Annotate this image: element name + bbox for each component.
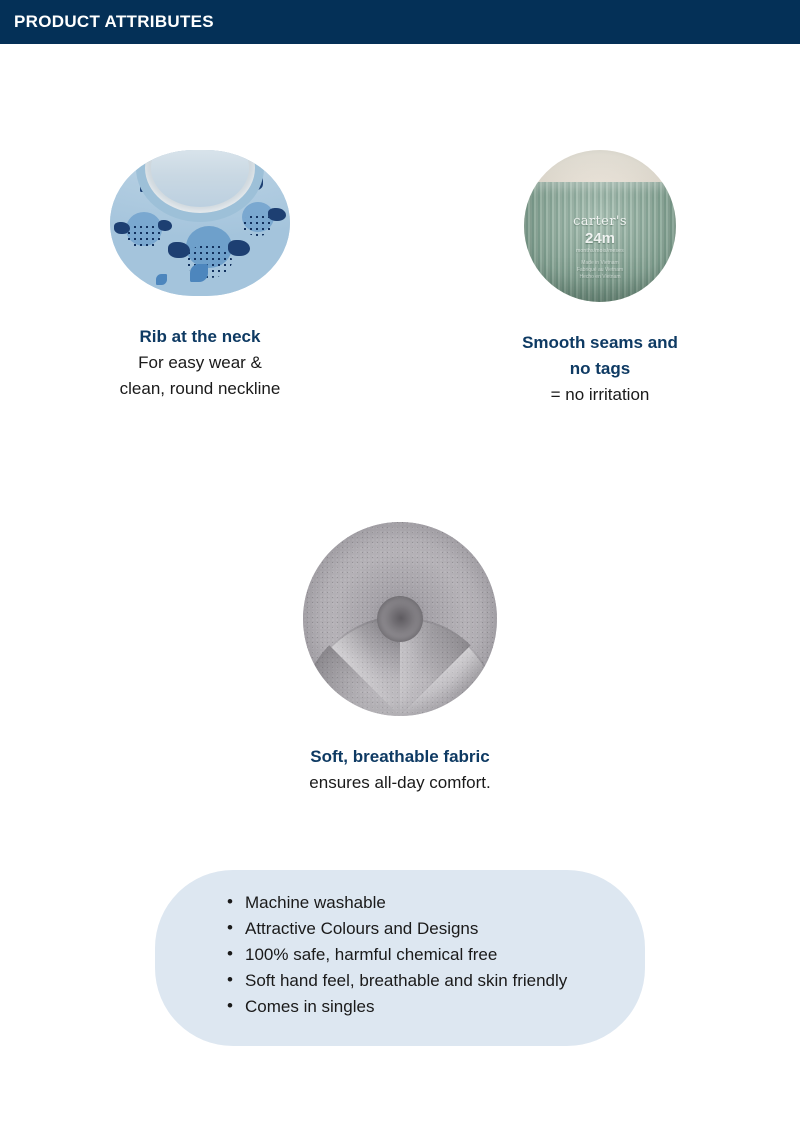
list-item: Comes in singles <box>227 994 645 1020</box>
list-item: Attractive Colours and Designs <box>227 916 645 942</box>
attribute-title: Rib at the neck <box>120 324 281 350</box>
tag-origin-line-2: Fabriqué au Vietnam <box>524 267 676 274</box>
tag-size-unit: months/mois/meses <box>524 248 676 254</box>
attribute-card-soft-fabric: Soft, breathable fabric ensures all-day … <box>200 522 600 796</box>
attribute-caption-soft-fabric: Soft, breathable fabric ensures all-day … <box>309 744 490 796</box>
attribute-card-smooth-seams: carter's 24m months/mois/meses Made in V… <box>400 150 800 408</box>
attribute-subtitle-line-1: For easy wear & <box>120 350 281 376</box>
list-item: 100% safe, harmful chemical free <box>227 942 645 968</box>
fabric-edge-vignette <box>303 522 497 716</box>
attribute-card-rib-neck: Rib at the neck For easy wear & clean, r… <box>0 150 400 408</box>
page-title: PRODUCT ATTRIBUTES <box>14 12 214 32</box>
attribute-subtitle-line-1: = no irritation <box>522 382 678 408</box>
fish-accent-small-3 <box>156 274 167 285</box>
feature-list-panel: Machine washable Attractive Colours and … <box>155 870 645 1046</box>
attribute-caption-smooth-seams: Smooth seams and no tags = no irritation <box>522 330 678 408</box>
page-header: PRODUCT ATTRIBUTES <box>0 0 800 44</box>
attribute-caption-rib-neck: Rib at the neck For easy wear & clean, r… <box>120 324 281 402</box>
pufferfish-motif-center <box>166 226 252 286</box>
list-item: Soft hand feel, breathable and skin frie… <box>227 968 645 994</box>
attributes-row-bottom: Soft, breathable fabric ensures all-day … <box>0 522 800 796</box>
feature-list: Machine washable Attractive Colours and … <box>155 870 645 1020</box>
pufferfish-motif-left <box>116 208 170 252</box>
attribute-title-line-1: Smooth seams and <box>522 330 678 356</box>
tag-origin-line-1: Made in Vietnam <box>524 260 676 267</box>
attribute-subtitle-line-1: ensures all-day comfort. <box>309 770 490 796</box>
list-item: Machine washable <box>227 890 645 916</box>
attributes-row-top: Rib at the neck For easy wear & clean, r… <box>0 150 800 408</box>
attribute-title: Soft, breathable fabric <box>309 744 490 770</box>
attribute-title-line-2: no tags <box>522 356 678 382</box>
tag-printed-text: carter's 24m months/mois/meses Made in V… <box>524 214 676 281</box>
attribute-subtitle-line-2: clean, round neckline <box>120 376 281 402</box>
tag-origin-line-3: Hecho en Vietnam <box>524 274 676 281</box>
tag-origin-text: Made in Vietnam Fabriqué au Vietnam Hech… <box>524 260 676 281</box>
neckline-closeup-image <box>110 150 290 296</box>
tag-size-value: 24m <box>524 230 676 247</box>
fabric-swatch-image <box>303 522 497 716</box>
tag-brand-name: carter's <box>524 214 676 229</box>
carters-tagless-label-image: carter's 24m months/mois/meses Made in V… <box>524 150 676 302</box>
